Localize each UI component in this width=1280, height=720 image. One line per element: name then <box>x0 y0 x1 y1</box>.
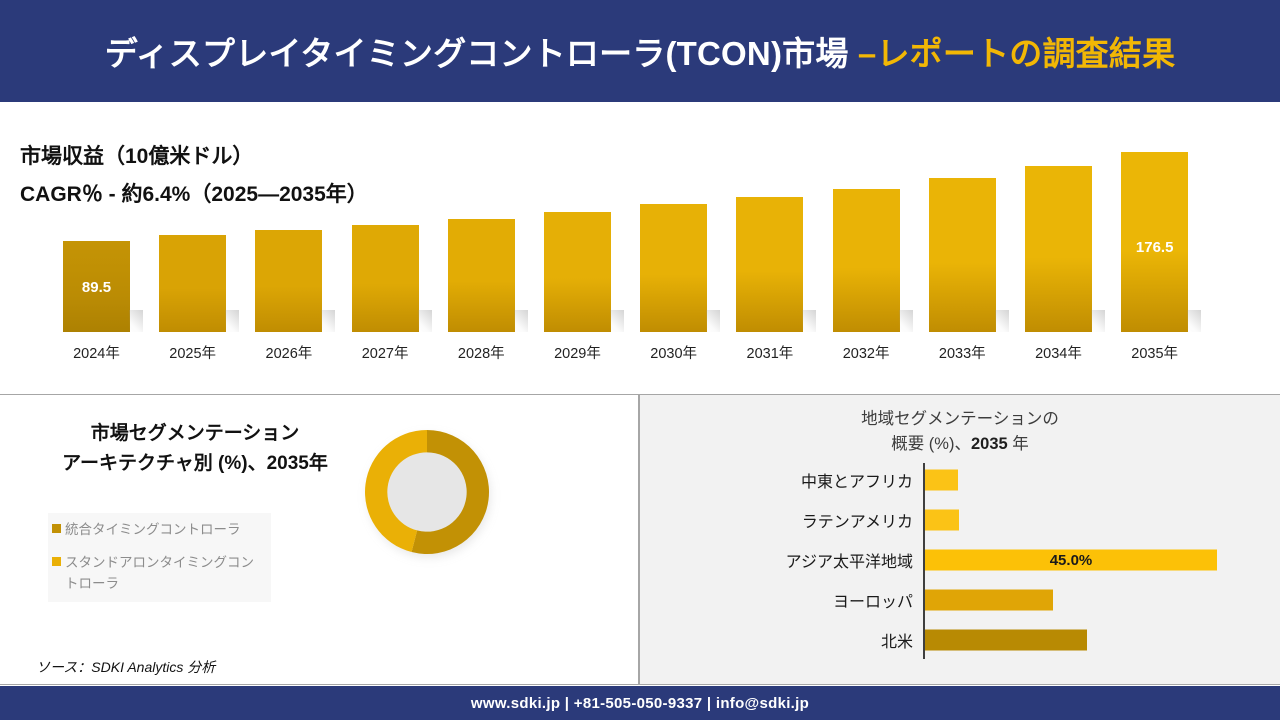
region-category-label: ラテンアメリカ <box>802 508 913 532</box>
revenue-bar <box>736 197 803 332</box>
revenue-bar: 176.5 <box>1121 152 1188 332</box>
revenue-bar-category-label: 2033年 <box>916 342 1009 363</box>
revenue-chart-section: 市場収益（10億米ドル） CAGR％ - 約6.4%（2025―2035年） 8… <box>0 102 1280 394</box>
revenue-bar-group: 2025年 <box>159 235 226 332</box>
revenue-bar <box>352 225 419 332</box>
donut-legend: 統合タイミングコントローラスタンドアロンタイミングコントローラ <box>48 513 271 602</box>
revenue-bar <box>159 235 226 332</box>
revenue-bar-category-label: 2032年 <box>820 342 913 363</box>
region-bar <box>925 630 1087 651</box>
revenue-bar-group: 2032年 <box>833 189 900 332</box>
footer-contact: www.sdki.jp | +81-505-050-9337 | info@sd… <box>471 695 809 712</box>
region-bar-row: 北米 <box>640 621 1280 659</box>
source-note: ソース：SDKI Analytics 分析 <box>36 657 215 677</box>
region-bar-chart: 中東とアフリカラテンアメリカアジア太平洋地域45.0%ヨーロッパ北米 <box>640 461 1280 673</box>
revenue-bar <box>929 178 996 332</box>
region-title-line1: 地域セグメンテーションの <box>800 407 1120 432</box>
revenue-bar-group: 2033年 <box>929 178 996 332</box>
region-bar-row: ラテンアメリカ <box>640 501 1280 539</box>
bottom-panels: 市場セグメンテーション アーキテクチャ別 (%)、2035年 統合タイミングコン… <box>0 394 1280 685</box>
segmentation-title-line2: アーキテクチャ別 (%)、2035年 <box>30 449 360 479</box>
region-bar-row: 中東とアフリカ <box>640 461 1280 499</box>
revenue-bar <box>544 212 611 332</box>
revenue-bar-shadow <box>802 310 816 332</box>
revenue-bar-category-label: 2025年 <box>146 342 239 363</box>
revenue-bar-category-label: 2028年 <box>435 342 528 363</box>
donut-svg <box>364 429 490 555</box>
revenue-bar-shadow <box>1091 310 1105 332</box>
revenue-bar-group: 2029年 <box>544 212 611 332</box>
segmentation-title-line1: 市場セグメンテーション <box>30 419 360 449</box>
revenue-bar-shadow <box>129 310 143 332</box>
revenue-bar <box>255 230 322 332</box>
revenue-bar: 89.5 <box>63 241 130 332</box>
revenue-bar-shadow <box>225 310 239 332</box>
revenue-bar-category-label: 2035年 <box>1108 342 1201 363</box>
infographic-page: ディスプレイタイミングコントローラ(TCON)市場 –レポートの調査結果 市場収… <box>0 0 1280 720</box>
legend-item-label: スタンドアロンタイミングコントローラ <box>65 552 267 594</box>
region-bar-row: ヨーロッパ <box>640 581 1280 619</box>
revenue-bar-shadow <box>321 310 335 332</box>
revenue-bar-shadow <box>514 310 528 332</box>
region-bar <box>925 470 958 491</box>
regional-segmentation-panel: 地域セグメンテーションの 概要 (%)、2035 年 中東とアフリカラテンアメリ… <box>639 394 1280 685</box>
region-title-pre: 概要 (%)、 <box>891 435 971 453</box>
revenue-bar-category-label: 2030年 <box>627 342 720 363</box>
legend-item-label: 統合タイミングコントローラ <box>65 519 241 540</box>
revenue-bar-group: 176.52035年 <box>1121 152 1188 332</box>
market-segmentation-panel: 市場セグメンテーション アーキテクチャ別 (%)、2035年 統合タイミングコン… <box>0 394 639 685</box>
page-title-main: ディスプレイタイミングコントローラ(TCON)市場 <box>105 35 858 72</box>
page-title-accent: –レポートの調査結果 <box>858 35 1175 72</box>
revenue-bar-category-label: 2026年 <box>242 342 335 363</box>
region-category-label: 中東とアフリカ <box>801 468 913 492</box>
revenue-bar <box>640 204 707 332</box>
revenue-bar-category-label: 2029年 <box>531 342 624 363</box>
revenue-bar <box>1025 166 1092 332</box>
region-bar-row: アジア太平洋地域45.0% <box>640 541 1280 579</box>
revenue-bar <box>448 219 515 332</box>
revenue-bar-group: 2030年 <box>640 204 707 332</box>
revenue-bar-shadow <box>1187 310 1201 332</box>
region-bar-value: 45.0% <box>925 552 1217 569</box>
legend-swatch-icon <box>52 524 61 533</box>
page-title: ディスプレイタイミングコントローラ(TCON)市場 –レポートの調査結果 <box>105 27 1176 75</box>
revenue-bar-shadow <box>706 310 720 332</box>
legend-item: 統合タイミングコントローラ <box>52 519 267 540</box>
region-title-post: 年 <box>1008 435 1029 453</box>
revenue-bar-group: 89.52024年 <box>63 241 130 332</box>
revenue-bar <box>833 189 900 332</box>
region-category-label: アジア太平洋地域 <box>786 548 913 572</box>
revenue-bar-shadow <box>418 310 432 332</box>
revenue-bar-group: 2034年 <box>1025 166 1092 332</box>
legend-item: スタンドアロンタイミングコントローラ <box>52 552 267 594</box>
revenue-bar-category-label: 2034年 <box>1012 342 1105 363</box>
revenue-bar-shadow <box>995 310 1009 332</box>
revenue-bar-group: 2027年 <box>352 225 419 332</box>
revenue-bar-category-label: 2024年 <box>50 342 143 363</box>
region-category-label: ヨーロッパ <box>833 588 913 612</box>
revenue-bar-shadow <box>899 310 913 332</box>
revenue-bar-shadow <box>610 310 624 332</box>
revenue-column-chart: 89.52024年2025年2026年2027年2028年2029年2030年2… <box>0 102 1280 394</box>
revenue-bar-group: 2028年 <box>448 219 515 332</box>
segmentation-title: 市場セグメンテーション アーキテクチャ別 (%)、2035年 <box>30 419 360 479</box>
region-bar: 45.0% <box>925 550 1217 571</box>
region-category-label: 北米 <box>881 628 913 652</box>
region-title: 地域セグメンテーションの 概要 (%)、2035 年 <box>800 407 1120 457</box>
revenue-bar-value: 176.5 <box>1121 239 1188 256</box>
revenue-bar-category-label: 2027年 <box>339 342 432 363</box>
legend-swatch-icon <box>52 557 61 566</box>
region-bar <box>925 590 1053 611</box>
revenue-bar-group: 2026年 <box>255 230 322 332</box>
revenue-bar-group: 2031年 <box>736 197 803 332</box>
architecture-donut-chart <box>364 429 490 555</box>
page-footer: www.sdki.jp | +81-505-050-9337 | info@sd… <box>0 686 1280 720</box>
revenue-bar-value: 89.5 <box>63 279 130 296</box>
region-title-year: 2035 <box>971 435 1008 453</box>
region-title-line2: 概要 (%)、2035 年 <box>800 432 1120 457</box>
region-bar <box>925 510 959 531</box>
page-header: ディスプレイタイミングコントローラ(TCON)市場 –レポートの調査結果 <box>0 0 1280 102</box>
revenue-bar-category-label: 2031年 <box>723 342 816 363</box>
